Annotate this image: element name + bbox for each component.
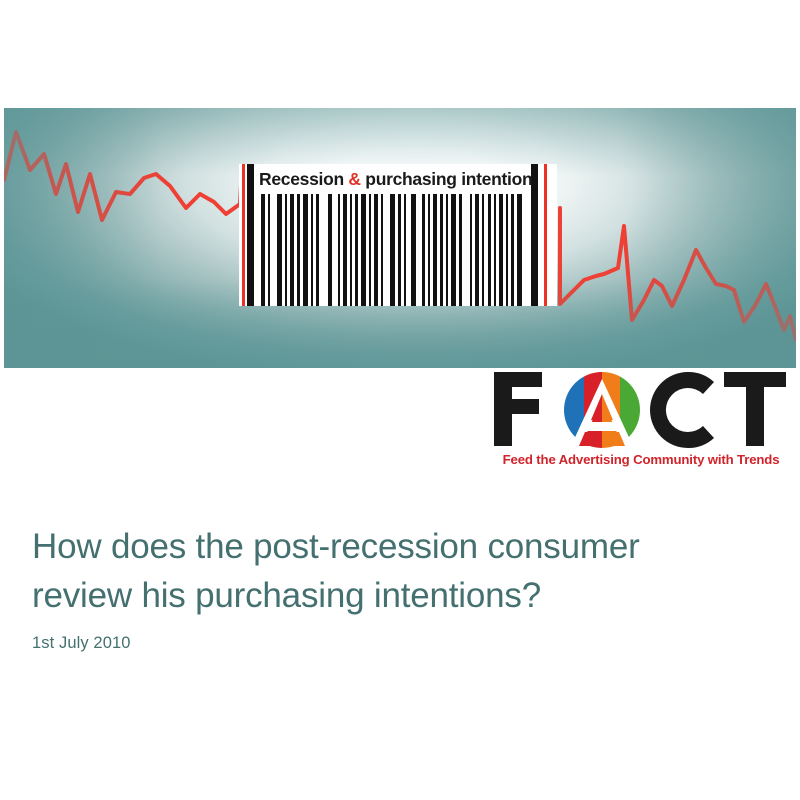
barcode-heading: Recession & purchasing intention [259,167,527,191]
barcode-heading-part1: Recession [259,169,348,189]
barcode-heading-part2: purchasing intention [361,169,533,189]
title-block: How does the post-recession consumer rev… [32,522,752,653]
logo-letter-a [564,372,642,448]
logo-letter-c [650,372,714,448]
page-title-line-2: review his purchasing intentions? [32,571,752,620]
fact-wordmark [492,370,788,448]
fact-logo: Feed the Advertising Community with Tren… [492,370,788,474]
page-title-line-1: How does the post-recession consumer [32,522,752,571]
logo-letter-t [724,372,786,446]
banner-image: Recession & purchasing intention [4,108,796,368]
barcode-graphic: Recession & purchasing intention [239,164,557,306]
barcode-heading-ampersand: & [348,169,360,189]
logo-letter-f [494,372,542,446]
logo-tagline: Feed the Advertising Community with Tren… [494,452,788,467]
presentation-date: 1st July 2010 [32,634,752,653]
page-title: How does the post-recession consumer rev… [32,522,752,620]
title-slide: Recession & purchasing intention [0,0,800,800]
